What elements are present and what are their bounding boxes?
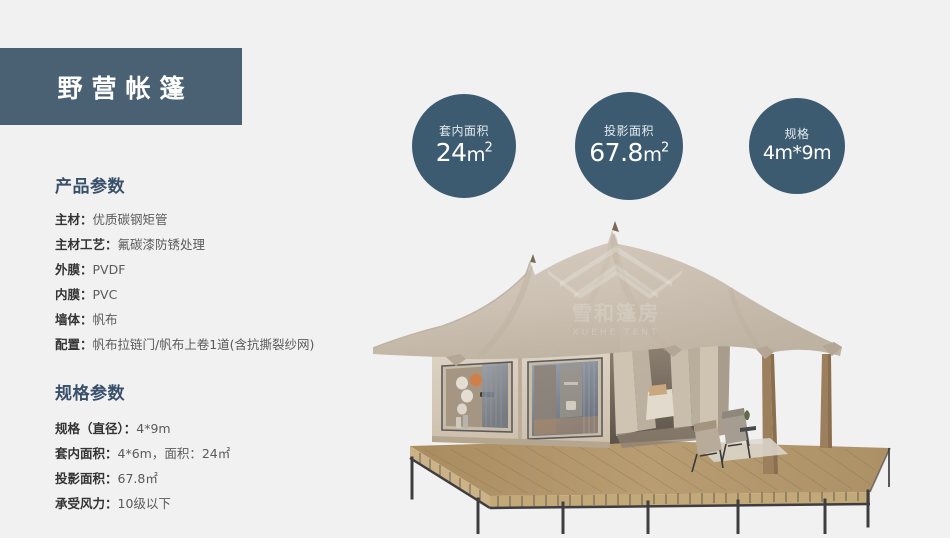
stat-value-superscript: 2 xyxy=(485,141,493,156)
spec-row: 承受风力：10级以下 xyxy=(55,491,395,516)
spec-value: 4*9m xyxy=(136,421,170,436)
spec-row: 主材：优质碳钢矩管 xyxy=(55,207,395,232)
spec-label: 配置： xyxy=(55,337,93,352)
spec-label: 套内面积： xyxy=(55,446,118,461)
stat-badge-interior-area: 套内面积 24m2 xyxy=(412,94,516,198)
stat-badge-caption: 投影面积 xyxy=(604,125,654,138)
stat-value-unit: m xyxy=(467,143,485,166)
page-root: 野营帐篷 套内面积 24m2 投影面积 67.8m2 规格 4m*9m 产品参数… xyxy=(0,0,950,534)
spec-row: 外膜：PVDF xyxy=(55,257,395,282)
stat-badge-value: 67.8m2 xyxy=(589,140,668,166)
tent-illustration: 雪和篷房 XUEHE TENT xyxy=(370,196,950,534)
spec-row: 主材工艺：氟碳漆防锈处理 xyxy=(55,232,395,257)
spec-value: 67.8㎡ xyxy=(118,471,158,486)
spec-value: 氟碳漆防锈处理 xyxy=(118,237,206,252)
stat-value-superscript: 2 xyxy=(661,141,669,156)
spec-row: 内膜：PVC xyxy=(55,282,395,307)
stat-badge-value: 4m*9m xyxy=(763,144,831,164)
spec-row: 规格（直径）：4*9m xyxy=(55,416,395,441)
spec-value: 帆布 xyxy=(93,312,118,327)
spec-row: 套内面积：4*6m，面积：24㎡ xyxy=(55,441,395,466)
spec-value: 4*6m，面积：24㎡ xyxy=(118,446,231,461)
spec-section-heading: 规格参数 xyxy=(55,379,395,404)
stat-badge-caption: 规格 xyxy=(784,128,809,141)
spec-label: 规格（直径）： xyxy=(55,421,136,436)
tent-interior xyxy=(610,344,700,448)
watermark-en: XUEHE TENT xyxy=(572,328,659,338)
spec-label: 墙体： xyxy=(55,312,93,327)
page-title: 野营帐篷 xyxy=(48,69,193,105)
spec-value: 优质碳钢矩管 xyxy=(93,212,168,227)
spec-label: 投影面积： xyxy=(55,471,118,486)
spec-section-dimensions: 规格参数 规格（直径）：4*9m 套内面积：4*6m，面积：24㎡ 投影面积：6… xyxy=(55,379,395,516)
tent-canopy xyxy=(373,221,842,366)
stat-value-number: 67.8 xyxy=(589,138,643,167)
stat-value-number: 4m*9m xyxy=(763,142,831,164)
spec-label: 主材： xyxy=(55,212,93,227)
watermark-cn: 雪和篷房 xyxy=(572,301,660,325)
stat-value-number: 24 xyxy=(436,138,467,167)
stat-badge-specification: 规格 4m*9m xyxy=(749,98,845,194)
specification-panel: 产品参数 主材：优质碳钢矩管 主材工艺：氟碳漆防锈处理 外膜：PVDF 内膜：P… xyxy=(55,172,395,538)
deck-platform xyxy=(410,440,890,534)
spec-value: PVDF xyxy=(93,262,126,277)
spec-section-heading: 产品参数 xyxy=(55,172,395,197)
spec-value: PVC xyxy=(93,287,118,302)
spec-label: 承受风力： xyxy=(55,496,118,511)
spec-label: 主材工艺： xyxy=(55,237,118,252)
stat-badge-caption: 套内面积 xyxy=(439,125,489,138)
spec-row: 投影面积：67.8㎡ xyxy=(55,466,395,491)
spec-row: 墙体：帆布 xyxy=(55,307,395,332)
spec-row: 配置：帆布拉链门/帆布上卷1道(含抗撕裂纱网) xyxy=(55,332,395,357)
spec-label: 外膜： xyxy=(55,262,93,277)
spec-value: 帆布拉链门/帆布上卷1道(含抗撕裂纱网) xyxy=(93,337,315,352)
spec-label: 内膜： xyxy=(55,287,93,302)
stat-value-unit: m xyxy=(643,143,661,166)
stat-badge-projected-area: 投影面积 67.8m2 xyxy=(575,92,683,200)
stat-badge-group: 套内面积 24m2 投影面积 67.8m2 规格 4m*9m xyxy=(412,92,872,200)
spec-value: 10级以下 xyxy=(118,496,171,511)
page-title-bar: 野营帐篷 xyxy=(0,48,242,125)
spec-section-product: 产品参数 主材：优质碳钢矩管 主材工艺：氟碳漆防锈处理 外膜：PVDF 内膜：P… xyxy=(55,172,395,357)
stat-badge-value: 24m2 xyxy=(436,140,493,166)
